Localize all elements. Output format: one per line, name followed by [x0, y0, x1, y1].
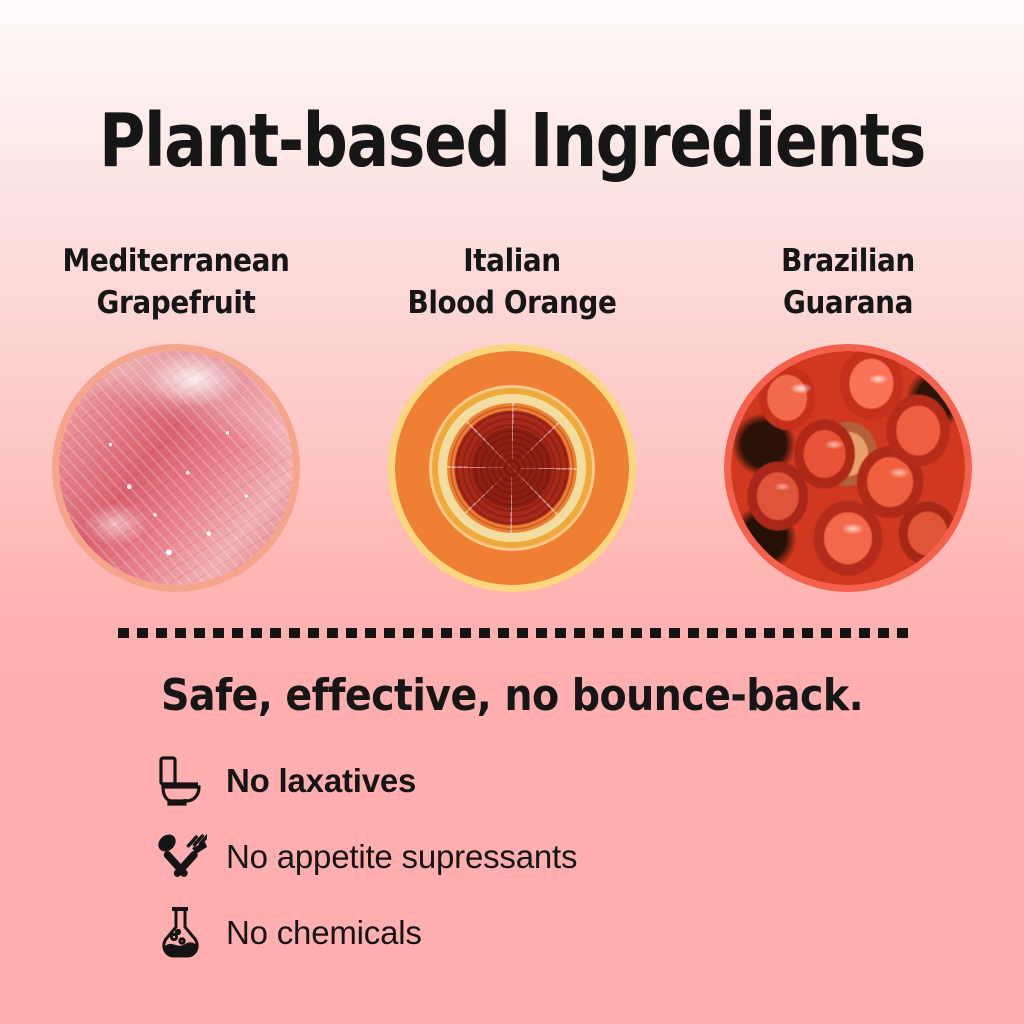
ingredient-image-guarana [724, 344, 972, 592]
ingredient-name-line1: Brazilian [781, 240, 915, 282]
ingredient-card-guarana: Brazilian Guarana [705, 240, 991, 592]
feature-label: No laxatives [226, 762, 416, 800]
ingredient-name-line1: Mediterranean [62, 240, 289, 282]
ingredient-image-grapefruit [52, 344, 300, 592]
ingredient-name-blood-orange: Italian Blood Orange [407, 240, 616, 328]
feature-no-appetite-supressants: No appetite supressants [150, 828, 577, 886]
ingredient-card-blood-orange: Italian Blood Orange [369, 240, 655, 592]
guarana-photo [731, 351, 965, 585]
spoon-fork-icon [150, 828, 212, 886]
ingredient-name-line2: Guarana [781, 282, 915, 324]
flask-icon [150, 904, 212, 962]
ingredient-image-blood-orange [388, 344, 636, 592]
blood-orange-photo [395, 351, 629, 585]
ingredient-card-grapefruit: Mediterranean Grapefruit [33, 240, 319, 592]
grapefruit-photo [59, 351, 293, 585]
dashed-divider [118, 628, 908, 638]
ingredient-name-line1: Italian [407, 240, 616, 282]
ingredients-row: Mediterranean Grapefruit Italian Blood O… [0, 240, 1024, 592]
ingredient-name-guarana: Brazilian Guarana [781, 240, 915, 328]
title-section: Plant-based Ingredients [0, 0, 1024, 178]
page-title: Plant-based Ingredients [26, 104, 999, 178]
feature-no-chemicals: No chemicals [150, 904, 577, 962]
blood-orange-slice [447, 403, 577, 533]
features-list: No laxatives No appetite supressants [150, 752, 577, 962]
ingredient-name-line2: Blood Orange [407, 282, 616, 324]
toilet-icon [150, 752, 212, 810]
feature-label: No chemicals [226, 914, 422, 952]
ingredient-name-grapefruit: Mediterranean Grapefruit [62, 240, 289, 328]
tagline: Safe, effective, no bounce-back. [0, 670, 1024, 721]
feature-label: No appetite supressants [226, 838, 577, 876]
ingredient-name-line2: Grapefruit [62, 282, 289, 324]
feature-no-laxatives: No laxatives [150, 752, 577, 810]
